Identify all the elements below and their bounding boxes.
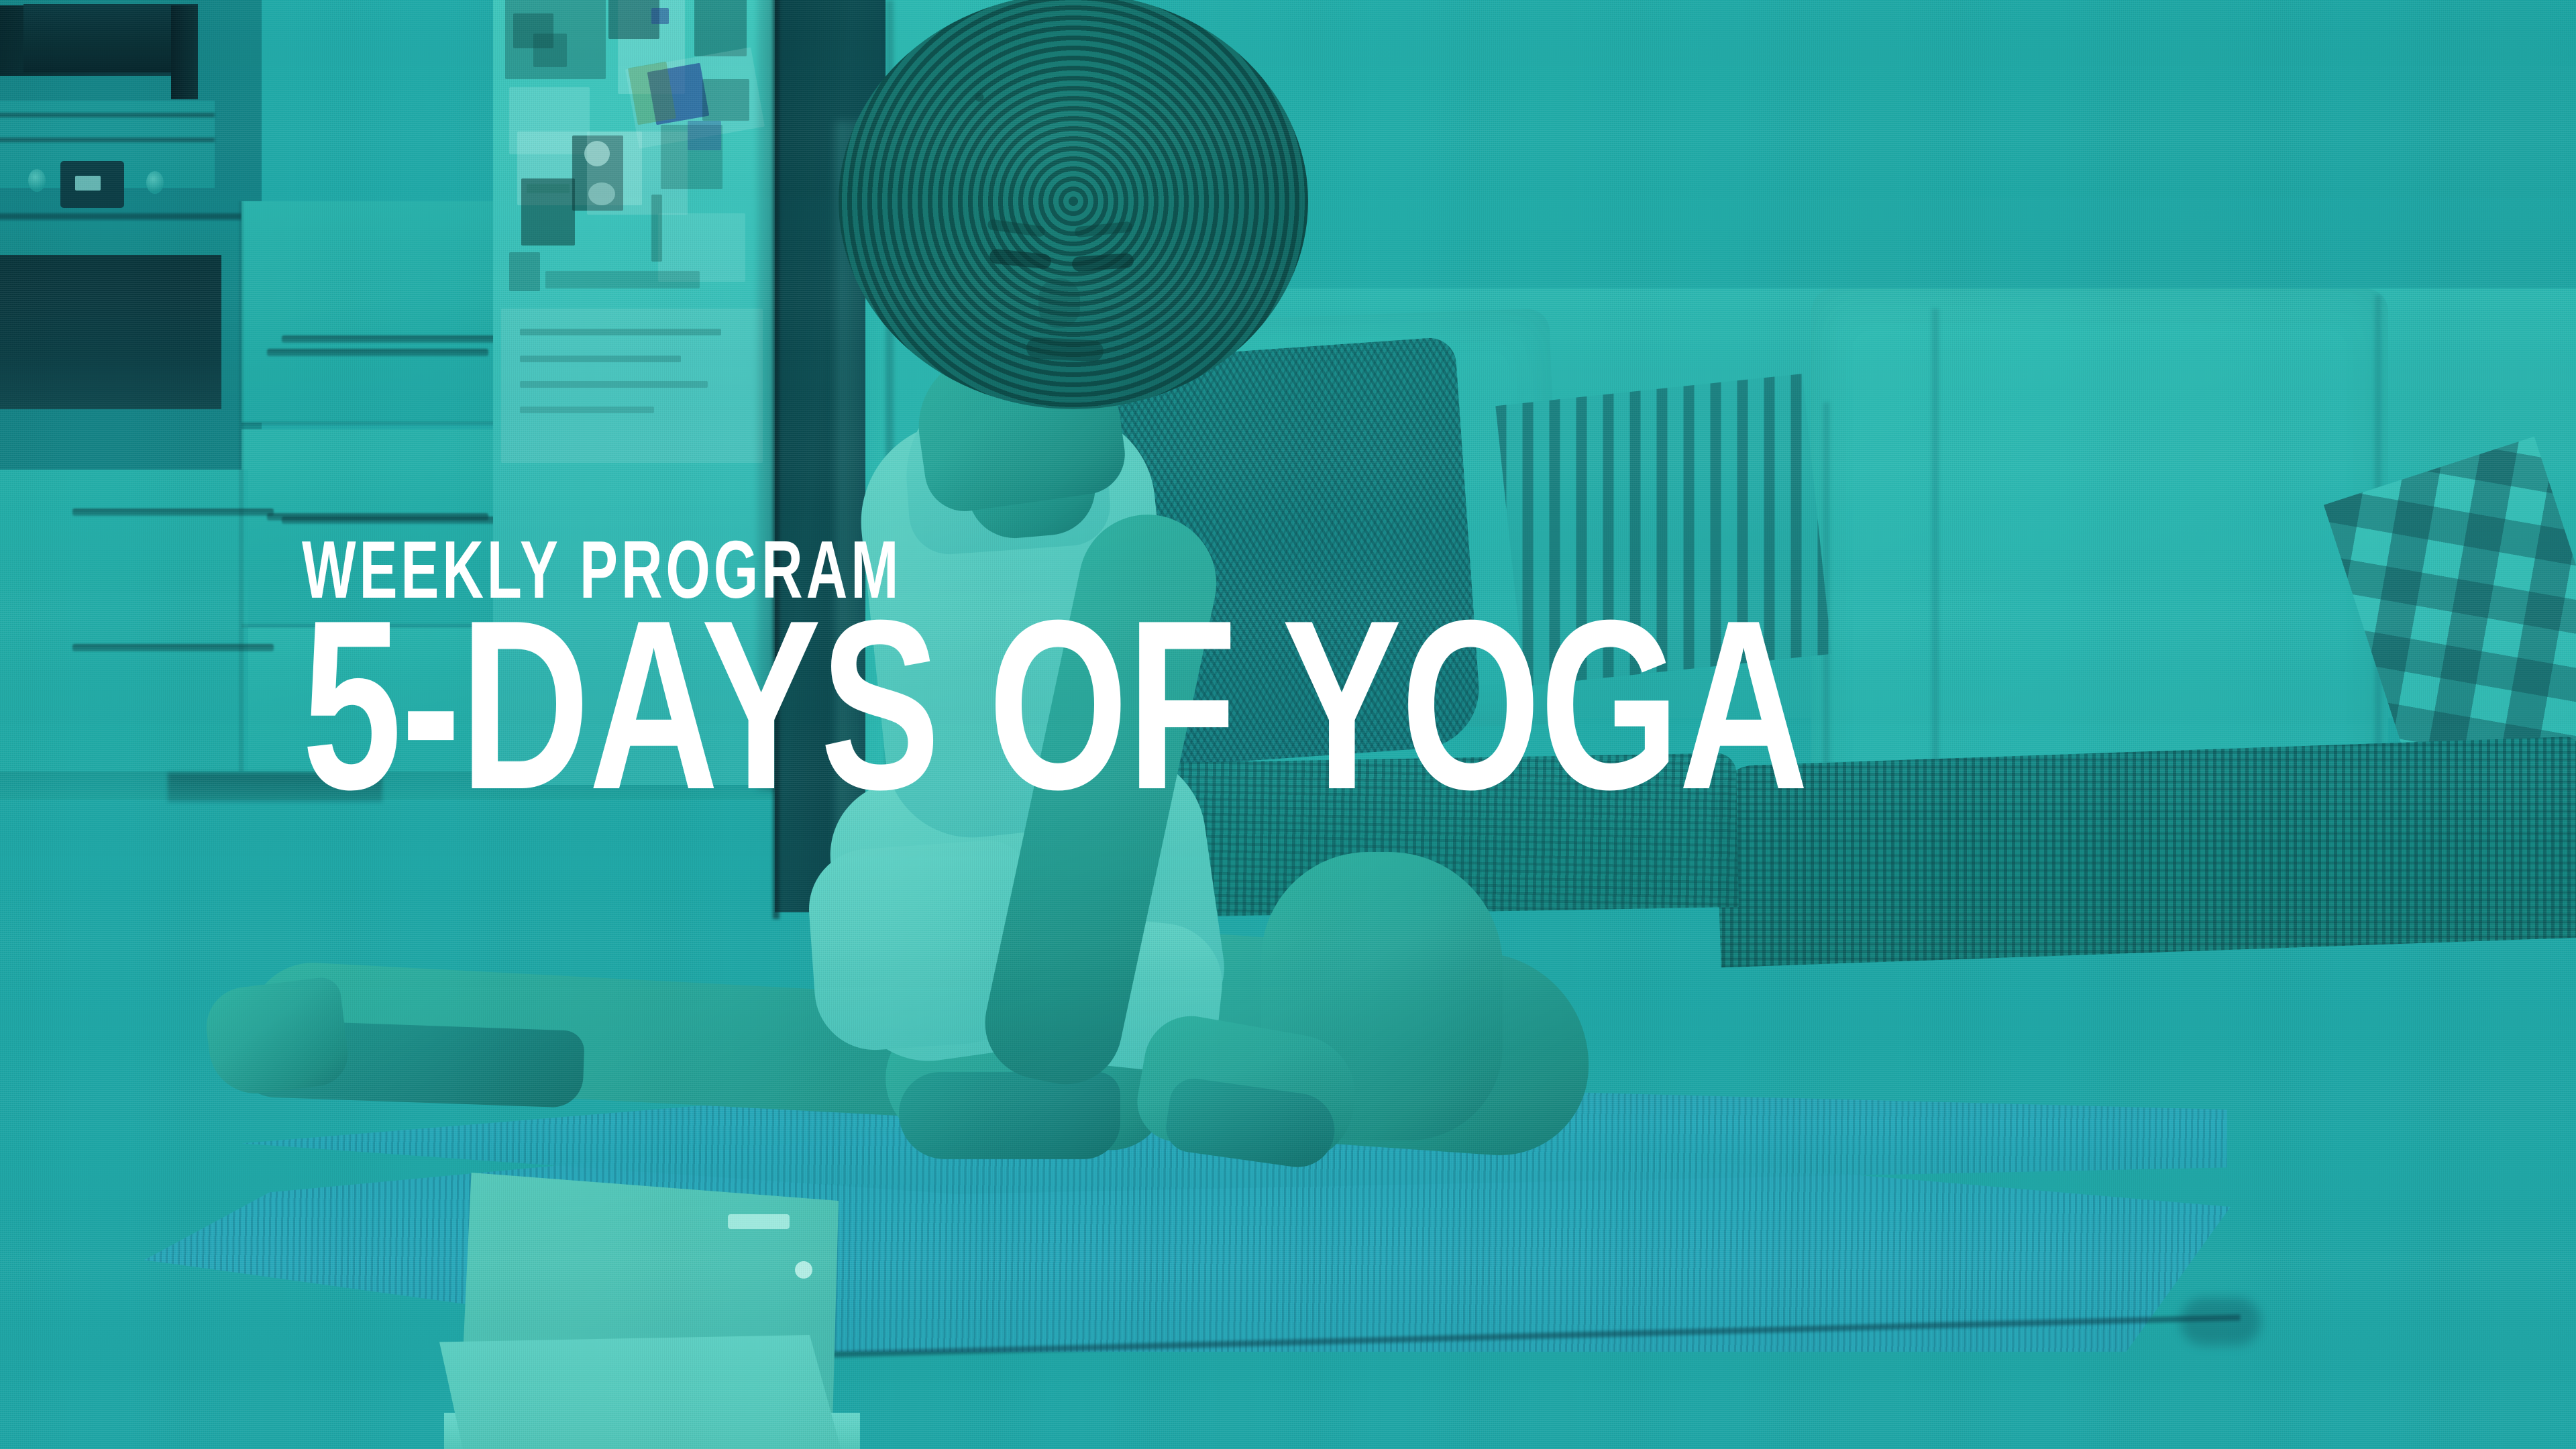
headline-text: 5-DAYS OF YOGA	[302, 604, 1808, 806]
text-overlay: WEEKLY PROGRAM 5-DAYS OF YOGA	[0, 0, 2576, 1449]
promo-banner: WEEKLY PROGRAM 5-DAYS OF YOGA	[0, 0, 2576, 1449]
